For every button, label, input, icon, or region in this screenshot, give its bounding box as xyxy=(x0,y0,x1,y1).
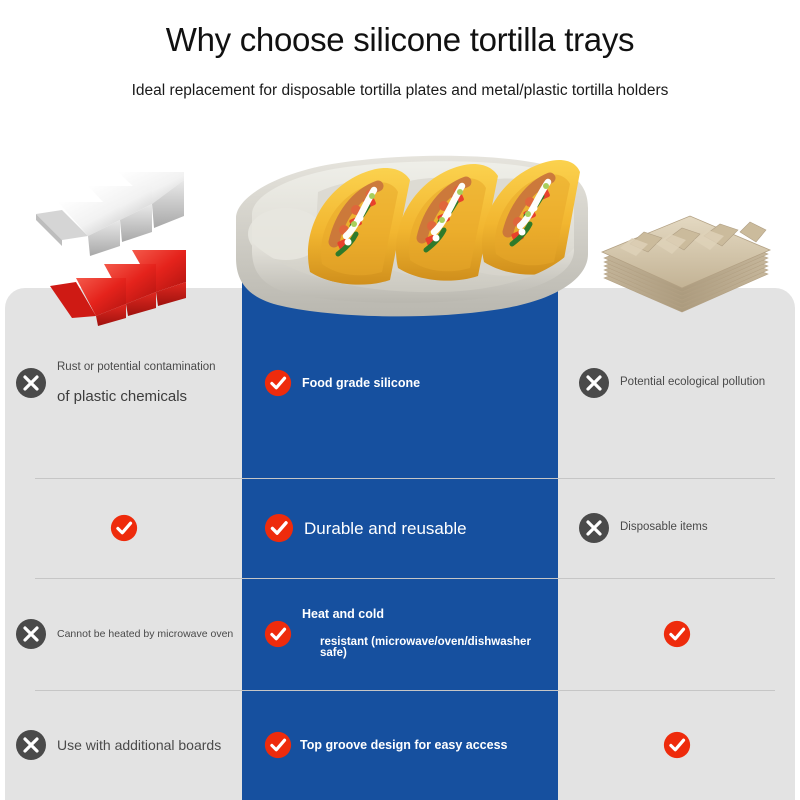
row-3-right-cell xyxy=(558,578,795,690)
cross-icon xyxy=(15,729,47,761)
comparison-rows: Rust or potential contamination of plast… xyxy=(5,288,795,800)
row-1-left-line-2: of plastic chemicals xyxy=(57,389,216,404)
row-1-right-text: Potential ecological pollution xyxy=(620,377,765,389)
cross-icon xyxy=(578,367,610,399)
row-divider xyxy=(35,690,775,691)
check-icon xyxy=(264,731,292,759)
row-3-left-cell: Cannot be heated by microwave oven xyxy=(5,578,242,690)
header: Why choose silicone tortilla trays Ideal… xyxy=(0,0,800,100)
row-3-center-line-1: Heat and cold xyxy=(302,608,558,621)
infographic-page: Why choose silicone tortilla trays Ideal… xyxy=(0,0,800,800)
cross-icon xyxy=(15,618,47,650)
row-4-center-text: Top groove design for easy access xyxy=(300,739,507,752)
row-1-center-text: Food grade silicone xyxy=(302,377,420,390)
row-3-center-cell: Heat and cold resistant (microwave/oven/… xyxy=(242,578,558,690)
row-2-right-text: Disposable items xyxy=(620,522,708,534)
row-2-right-cell: Disposable items xyxy=(558,478,795,578)
row-2-center-text: Durable and reusable xyxy=(304,520,467,537)
row-3-center-text: Heat and cold resistant (microwave/oven/… xyxy=(302,608,558,660)
cross-icon xyxy=(15,367,47,399)
check-icon xyxy=(110,514,138,542)
check-icon xyxy=(264,620,292,648)
check-icon xyxy=(663,620,691,648)
row-1-left-text: Rust or potential contamination of plast… xyxy=(57,362,216,405)
row-4-center-cell: Top groove design for easy access xyxy=(242,690,558,800)
check-icon xyxy=(264,369,292,397)
row-4-right-cell xyxy=(558,690,795,800)
table-row: Use with additional boards Top groove de… xyxy=(5,690,795,800)
check-icon xyxy=(264,513,294,543)
row-2-left-cell xyxy=(5,478,242,578)
row-1-center-cell: Food grade silicone xyxy=(242,288,558,478)
row-divider xyxy=(35,478,775,479)
row-3-center-line-2: resistant (microwave/oven/dishwasher saf… xyxy=(320,637,558,660)
page-subtitle: Ideal replacement for disposable tortill… xyxy=(0,82,800,101)
row-1-left-line-1: Rust or potential contamination xyxy=(57,362,216,374)
row-2-center-cell: Durable and reusable xyxy=(242,478,558,578)
row-divider xyxy=(35,578,775,579)
row-4-left-text: Use with additional boards xyxy=(57,738,221,752)
check-icon xyxy=(663,731,691,759)
table-row: Cannot be heated by microwave oven Heat … xyxy=(5,578,795,690)
row-4-left-cell: Use with additional boards xyxy=(5,690,242,800)
row-3-left-text: Cannot be heated by microwave oven xyxy=(57,629,233,640)
table-row: Durable and reusable Disposable items xyxy=(5,478,795,578)
row-1-right-cell: Potential ecological pollution xyxy=(558,288,795,478)
row-1-left-cell: Rust or potential contamination of plast… xyxy=(5,288,242,478)
page-title: Why choose silicone tortilla trays xyxy=(0,20,800,60)
cross-icon xyxy=(578,512,610,544)
metal-tortilla-holder-image xyxy=(32,170,194,266)
table-row: Rust or potential contamination of plast… xyxy=(5,288,795,478)
